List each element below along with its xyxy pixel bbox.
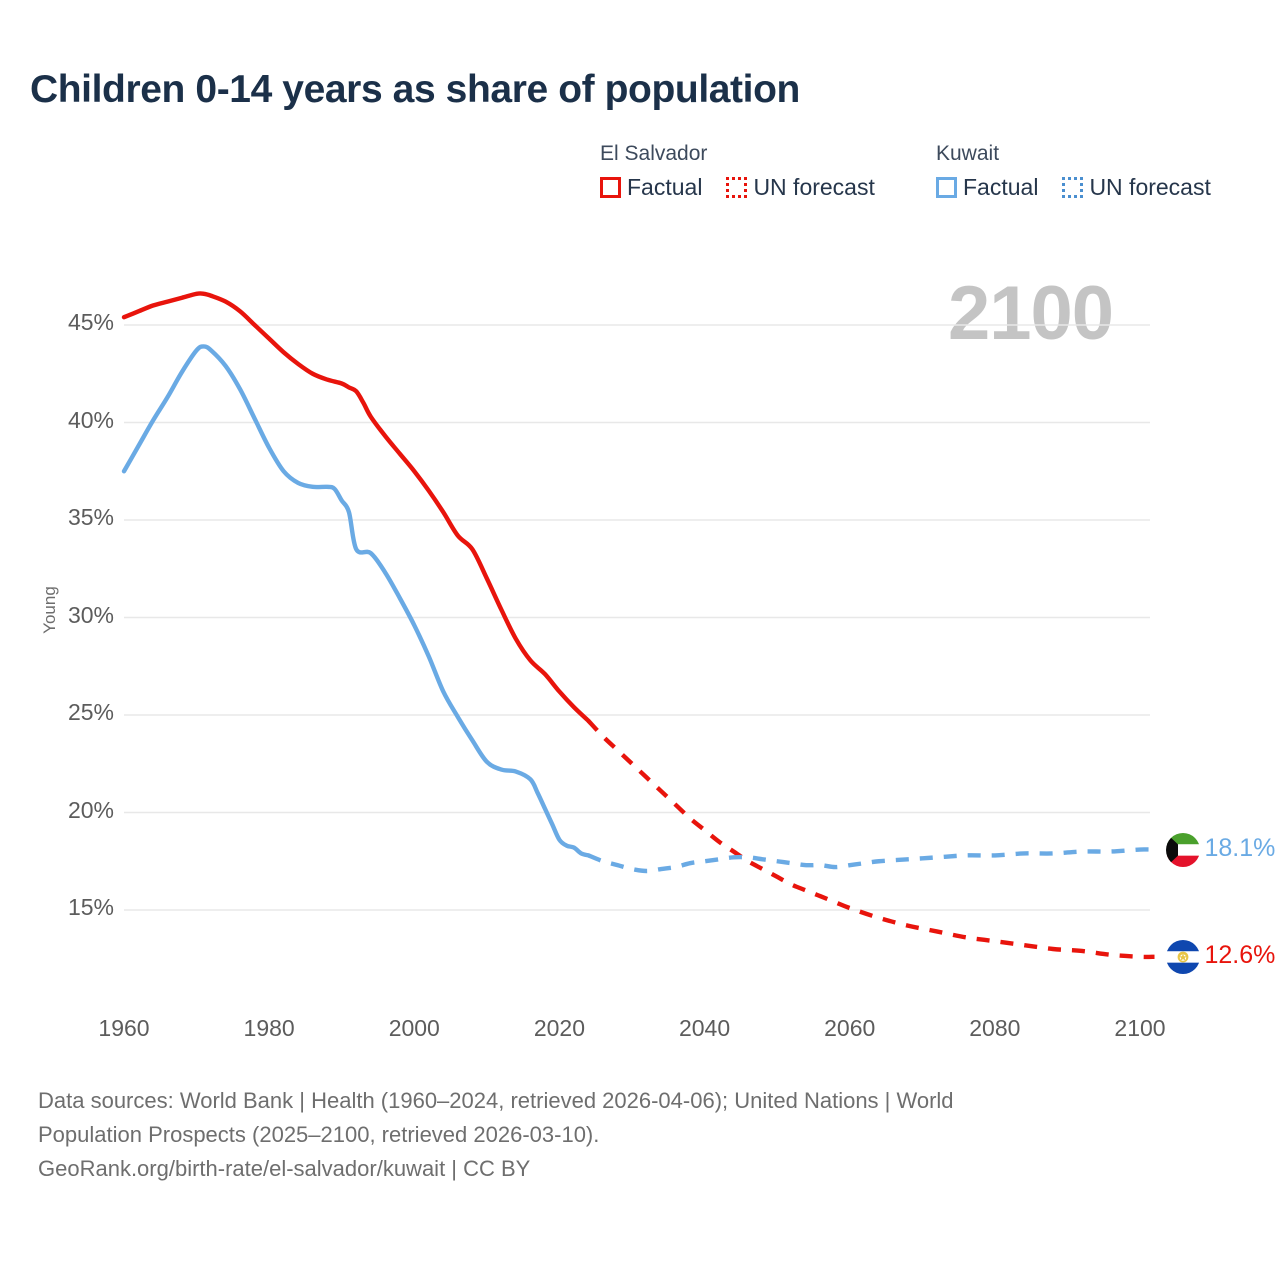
series-end-value-label: 18.1% [1205, 834, 1276, 863]
chart-page: Children 0-14 years as share of populati… [0, 0, 1280, 1280]
y-tick-label: 30% [24, 602, 114, 629]
watermark-year: 2100 [948, 276, 1113, 352]
y-tick-label: 25% [24, 699, 114, 726]
x-tick-label: 1960 [64, 1015, 184, 1042]
legend-swatch-dotted-icon [726, 177, 747, 198]
kuwait-flag [1166, 833, 1200, 867]
footer-line: Population Prospects (2025–2100, retriev… [38, 1118, 1238, 1152]
legend-country-name: El Salvador [600, 142, 875, 166]
chart-legend: El Salvador Factual UN forecast Kuwait F… [600, 142, 1260, 222]
legend-item-factual[interactable]: Factual [600, 174, 702, 201]
x-tick-label: 1980 [209, 1015, 329, 1042]
legend-item-label: Factual [963, 174, 1038, 201]
x-tick-label: 2040 [645, 1015, 765, 1042]
legend-item-label: UN forecast [1089, 174, 1210, 201]
x-tick-label: 2100 [1080, 1015, 1200, 1042]
page-title: Children 0-14 years as share of populati… [30, 68, 800, 112]
series-line-factual [124, 293, 588, 720]
footer-sources: Data sources: World Bank | Health (1960–… [38, 1084, 1238, 1186]
el-salvador-flag [1166, 940, 1200, 974]
x-tick-label: 2020 [499, 1015, 619, 1042]
series-line-factual [124, 346, 588, 855]
footer-line: Data sources: World Bank | Health (1960–… [38, 1084, 1238, 1118]
legend-item-factual[interactable]: Factual [936, 174, 1038, 201]
legend-country-name: Kuwait [936, 142, 1211, 166]
series-line-forecast [588, 849, 1154, 871]
legend-swatch-dotted-icon [1062, 177, 1083, 198]
legend-group-kuwait: Kuwait Factual UN forecast [936, 142, 1211, 201]
legend-item-label: UN forecast [753, 174, 874, 201]
legend-item-un-forecast[interactable]: UN forecast [726, 174, 874, 201]
legend-swatch-solid-icon [600, 177, 621, 198]
series-end-value-label: 12.6% [1205, 941, 1276, 970]
legend-group-el-salvador: El Salvador Factual UN forecast [600, 142, 875, 201]
x-tick-label: 2000 [354, 1015, 474, 1042]
legend-swatch-solid-icon [936, 177, 957, 198]
legend-item-label: Factual [627, 174, 702, 201]
y-axis-title: Young [40, 550, 60, 670]
legend-item-un-forecast[interactable]: UN forecast [1062, 174, 1210, 201]
y-tick-label: 20% [24, 797, 114, 824]
y-tick-label: 40% [24, 407, 114, 434]
y-tick-label: 15% [24, 894, 114, 921]
x-tick-label: 2080 [935, 1015, 1055, 1042]
y-tick-label: 35% [24, 504, 114, 531]
x-tick-label: 2060 [790, 1015, 910, 1042]
footer-line: GeoRank.org/birth-rate/el-salvador/kuwai… [38, 1152, 1238, 1186]
y-tick-label: 45% [24, 309, 114, 336]
series-line-forecast [588, 721, 1154, 957]
